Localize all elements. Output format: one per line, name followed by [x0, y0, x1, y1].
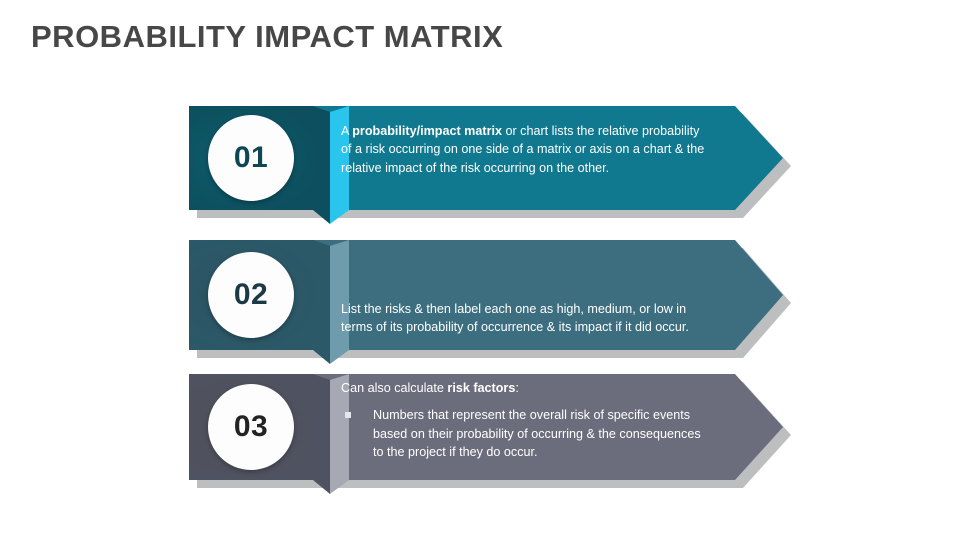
list-item: Numbers that represent the overall risk … — [341, 406, 713, 461]
ribbon-fold-dark — [313, 374, 330, 494]
ribbon-fold-dark — [313, 240, 330, 364]
step-number-circle: 03 — [208, 384, 294, 470]
step-number-label: 02 — [234, 280, 268, 310]
step-heading: Can also calculate risk factors: — [341, 379, 713, 397]
step-heading-bold: risk factors — [447, 381, 515, 395]
step-text: Can also calculate risk factors: Numbers… — [341, 379, 713, 462]
step-number-label: 03 — [234, 412, 268, 442]
step-number-label: 01 — [234, 143, 268, 173]
step-heading-after: : — [515, 381, 519, 395]
step-paragraph: List the risks & then label each one as … — [341, 300, 713, 337]
page-title: PROBABILITY IMPACT MATRIX — [31, 19, 503, 55]
process-step-2[interactable]: 02 List the risks & then label each one … — [189, 240, 783, 350]
step-number-circle: 01 — [208, 115, 294, 201]
process-step-3[interactable]: 03 Can also calculate risk factors: Numb… — [189, 374, 783, 480]
ribbon-fold-dark — [313, 106, 330, 224]
process-step-1[interactable]: 01 A probability/impact matrix or chart … — [189, 106, 783, 210]
step-bullet-list: Numbers that represent the overall risk … — [341, 406, 713, 461]
step-paragraph: A probability/impact matrix or chart lis… — [341, 122, 713, 177]
step-text: A probability/impact matrix or chart lis… — [341, 122, 713, 177]
square-bullet-icon — [345, 412, 351, 418]
list-item-label: Numbers that represent the overall risk … — [373, 408, 701, 459]
step-text-after: List the risks & then label each one as … — [341, 302, 689, 334]
step-text: List the risks & then label each one as … — [341, 300, 713, 337]
step-heading-before: Can also calculate — [341, 381, 447, 395]
step-text-before: A — [341, 124, 352, 138]
step-text-bold: probability/impact matrix — [352, 124, 502, 138]
step-number-circle: 02 — [208, 252, 294, 338]
